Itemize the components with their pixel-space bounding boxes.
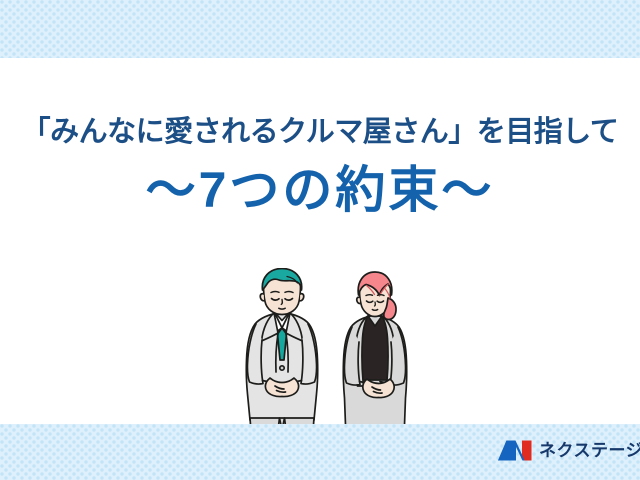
top-dot-band: [0, 0, 640, 58]
nextage-n-mark-icon: [498, 439, 532, 462]
headline-line-2: 〜7つの約束〜: [0, 165, 640, 215]
headline-line-1: 「みんなに愛されるクルマ屋さん」を目指して: [0, 118, 640, 147]
headline-block: 「みんなに愛されるクルマ屋さん」を目指して 〜7つの約束〜: [0, 118, 640, 215]
staff-illustration: [232, 268, 428, 438]
nextage-logo: ネクステージ: [498, 437, 640, 463]
slide-root: 「みんなに愛されるクルマ屋さん」を目指して 〜7つの約束〜: [0, 0, 640, 480]
staff-illustration-svg: [232, 268, 428, 438]
nextage-logo-text: ネクステージ: [539, 442, 640, 459]
